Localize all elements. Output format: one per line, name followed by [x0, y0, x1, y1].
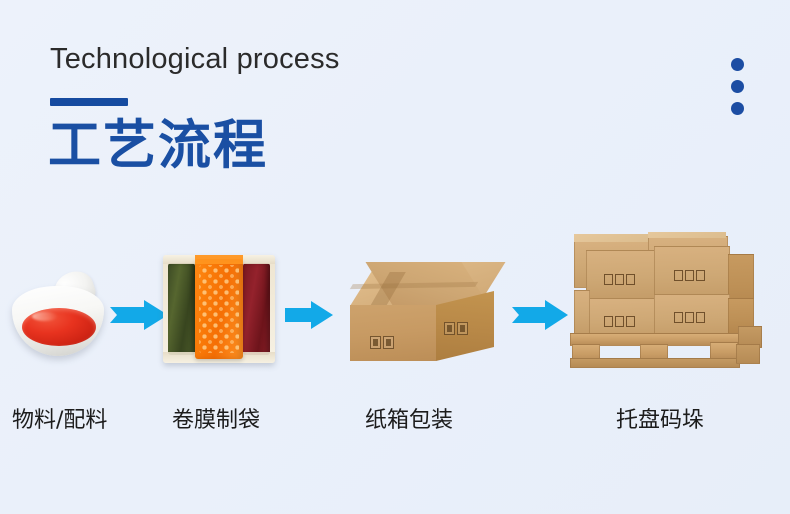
pallet-box [574, 290, 590, 336]
sachet-orange-top-seal [195, 255, 243, 264]
shipping-symbol-icon [370, 336, 394, 349]
title-accent-bar [50, 98, 128, 106]
step-label-pallet-stacking: 托盘码垛 [616, 402, 704, 434]
sachet-pack-icon [163, 255, 275, 363]
step-label-film-bag-making: 卷膜制袋 [172, 402, 260, 434]
sauce-highlight [32, 312, 58, 321]
shipping-symbol-icon [604, 274, 635, 285]
more-options-button[interactable] [731, 58, 744, 115]
carton-front-face [350, 305, 436, 361]
pallet-block [736, 344, 760, 364]
pallet-box-top [574, 234, 648, 242]
step-label-carton-packing: 纸箱包装 [365, 402, 453, 434]
step-label-raw-material: 物料/配料 [12, 402, 107, 434]
pallet-box-top [648, 232, 726, 238]
pallet-bottom-board [570, 358, 740, 368]
sachet-texture [199, 265, 239, 353]
right-arrow-icon [110, 300, 168, 330]
process-infographic: Technological process 工艺流程 [0, 0, 790, 514]
menu-dot-icon [731, 58, 744, 71]
sachet-green [168, 263, 195, 355]
carton-box-icon [340, 262, 500, 367]
page-title-english: Technological process [50, 43, 340, 76]
sauce-bowl-icon [10, 272, 110, 358]
shipping-symbol-icon [674, 312, 705, 323]
menu-dot-icon [731, 80, 744, 93]
sachet-red [243, 263, 270, 355]
sachet-orange [195, 259, 243, 359]
menu-dot-icon [731, 102, 744, 115]
shipping-symbol-icon [444, 322, 468, 335]
pallet-stack-icon [568, 232, 768, 367]
bowl-body [12, 286, 104, 356]
shipping-symbol-icon [674, 270, 705, 281]
page-title-chinese: 工艺流程 [48, 116, 268, 175]
right-arrow-icon [512, 300, 568, 330]
right-arrow-icon [285, 300, 333, 330]
shipping-symbol-icon [604, 316, 635, 327]
